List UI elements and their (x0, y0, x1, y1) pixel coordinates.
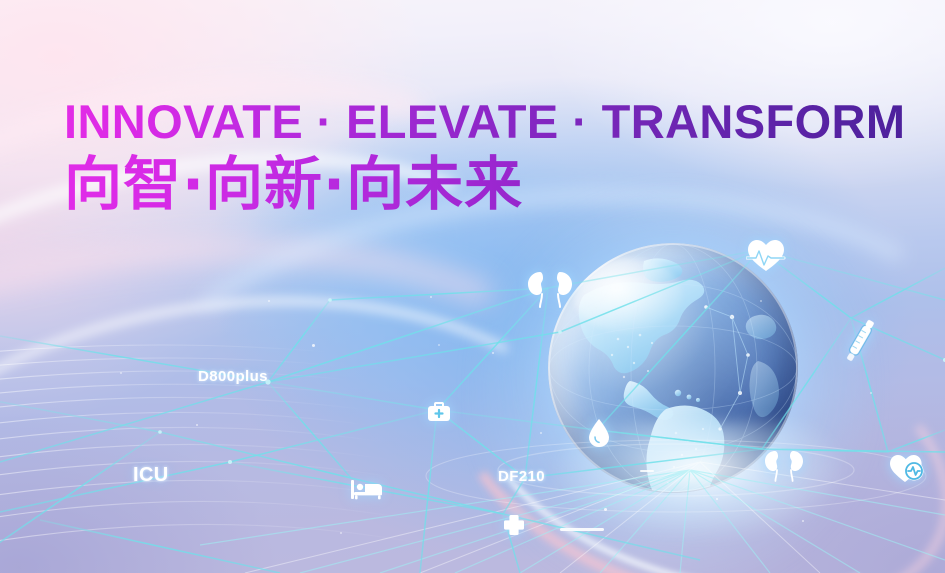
globe-continents (548, 243, 798, 493)
particle-speckles (0, 0, 945, 573)
warm-light-ribbon (406, 227, 945, 573)
globe-sphere (548, 243, 798, 493)
background-striations (0, 0, 945, 573)
medical-cross-icon[interactable] (503, 514, 525, 536)
headline-block: INNOVATE · ELEVATE · TRANSFORM 向智·向新·向未来 (64, 97, 905, 217)
banner-root: D800plus ICU DF210 INNOVATE · ELEVATE · … (0, 0, 945, 573)
background-blue-core-glow (0, 0, 945, 573)
background-top-right-light (0, 0, 945, 573)
globe-outer-glow (470, 183, 876, 573)
globe-rim-light (548, 243, 798, 493)
syringe-icon[interactable] (841, 317, 880, 366)
light-swirl-arc-5 (106, 160, 945, 573)
product-label-icu: ICU (133, 464, 169, 487)
background-base-gradient (0, 0, 945, 573)
globe-container (548, 243, 798, 493)
light-swirl-arc-3 (0, 169, 664, 573)
product-label-d800plus: D800plus (198, 368, 268, 385)
heart-pulse-circle-icon[interactable] (888, 452, 926, 484)
kidneys-icon[interactable] (524, 268, 576, 312)
background-pink-wash (0, 0, 945, 573)
hospital-bed-icon[interactable] (351, 478, 383, 500)
background-corner-vignette (0, 0, 945, 573)
kidneys-icon[interactable] (762, 449, 806, 485)
headline-chinese: 向智·向新·向未来 (64, 153, 905, 217)
network-mesh (0, 0, 945, 573)
medical-bag-icon[interactable] (427, 400, 451, 422)
headline-english: INNOVATE · ELEVATE · TRANSFORM (64, 97, 905, 148)
globe-specular-highlight (573, 258, 683, 333)
product-label-df210: DF210 (498, 468, 545, 485)
water-drop-icon[interactable] (587, 418, 611, 448)
heart-pulse-icon[interactable] (746, 238, 786, 274)
ground-light-rays (0, 0, 945, 573)
